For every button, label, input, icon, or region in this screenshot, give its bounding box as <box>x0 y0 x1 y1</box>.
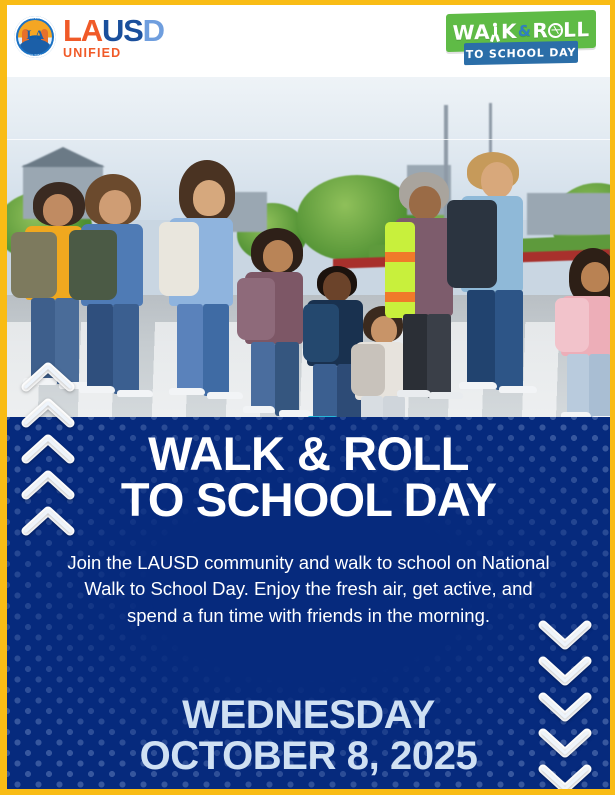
event-date-value: OCTOBER 8, 2025 <box>7 736 610 777</box>
lausd-word-us: US <box>102 13 143 48</box>
walk-roll-text-c: R <box>532 18 548 42</box>
chevron-down-icon <box>536 721 594 761</box>
chevron-up-icon <box>19 465 77 505</box>
chevron-up-icon <box>19 501 77 541</box>
lausd-logo: LA LOS ANGELES UNIFIED SCHOOL DISTRICT L… <box>14 15 164 60</box>
event-date: WEDNESDAY OCTOBER 8, 2025 <box>7 695 610 777</box>
walk-roll-ampersand: & <box>518 22 531 40</box>
hero-photo <box>7 77 610 417</box>
lausd-word-la: LA <box>63 13 102 48</box>
student-figure <box>69 164 169 410</box>
seal-bottom-text: SCHOOL DISTRICT <box>14 54 56 57</box>
walk-roll-text-d: LL <box>563 17 589 42</box>
walk-and-roll-logo: WAK&RLL TO SCHOOL DAY <box>446 12 596 70</box>
chevron-up-icon <box>19 429 77 469</box>
headline-line-1: WALK & ROLL <box>7 431 610 477</box>
left-chevron-group <box>19 357 77 537</box>
lausd-wordmark: LAUSD UNIFIED <box>63 15 164 60</box>
student-figure <box>445 152 549 410</box>
description-text: Join the LAUSD community and walk to sch… <box>67 550 550 629</box>
chevron-down-icon <box>536 685 594 725</box>
walk-roll-text-a: WA <box>453 20 490 45</box>
headline-line-2: TO SCHOOL DAY <box>7 477 610 523</box>
poster-flyer: LA LOS ANGELES UNIFIED SCHOOL DISTRICT L… <box>0 0 615 795</box>
walk-roll-subtitle: TO SCHOOL DAY <box>464 41 578 65</box>
lausd-word-d: D <box>143 13 164 48</box>
chevron-up-icon <box>19 393 77 433</box>
bike-wheel-icon <box>548 22 563 37</box>
walk-roll-text-b: K <box>501 19 517 43</box>
chevron-up-icon <box>19 357 77 397</box>
right-chevron-group <box>536 613 594 793</box>
chevron-down-icon <box>536 649 594 689</box>
student-figure <box>555 200 610 410</box>
seal-top-text: LOS ANGELES UNIFIED <box>14 17 56 20</box>
lausd-seal-icon: LA LOS ANGELES UNIFIED SCHOOL DISTRICT <box>14 16 56 58</box>
event-day: WEDNESDAY <box>7 695 610 736</box>
chevron-down-icon <box>536 757 594 795</box>
page-title: WALK & ROLL TO SCHOOL DAY <box>7 431 610 523</box>
poster-header: LA LOS ANGELES UNIFIED SCHOOL DISTRICT L… <box>7 5 610 77</box>
seal-monogram: LA <box>18 27 52 43</box>
chevron-down-icon <box>536 613 594 653</box>
walking-person-icon <box>490 22 501 41</box>
photo-horizon-line <box>7 139 610 140</box>
lausd-subtitle: UNIFIED <box>63 47 164 60</box>
content-panel: WALK & ROLL TO SCHOOL DAY Join the LAUSD… <box>7 417 610 789</box>
